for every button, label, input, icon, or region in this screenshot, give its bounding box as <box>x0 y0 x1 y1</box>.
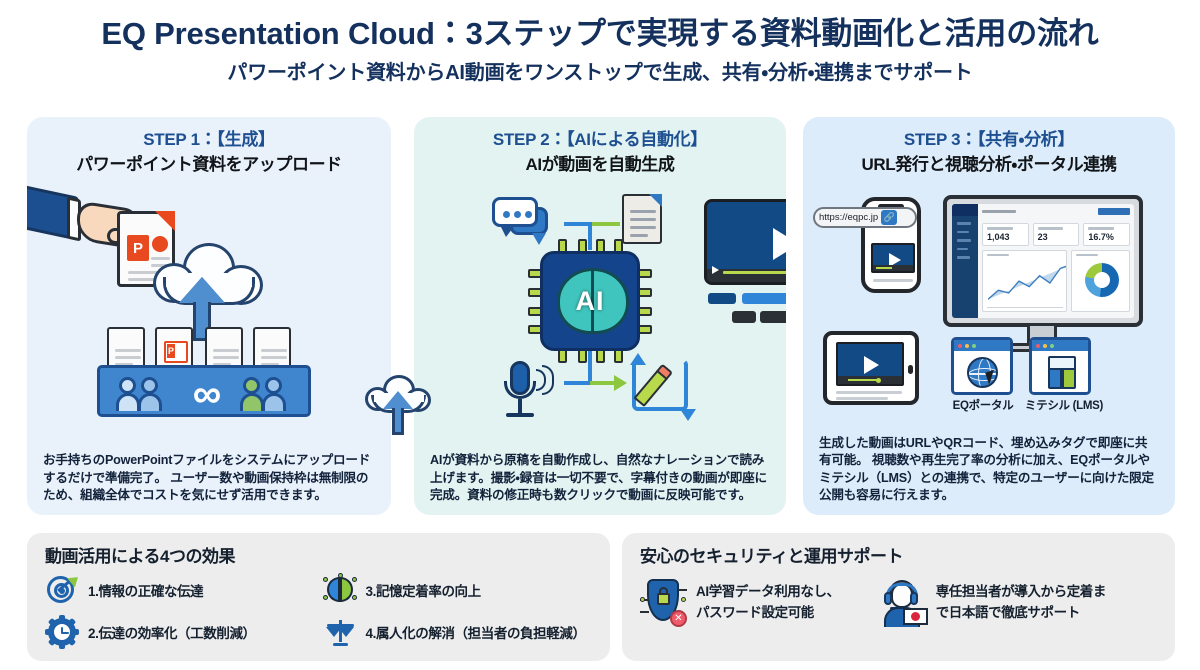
security-text-2-line2: で日本語で徹底サポート <box>936 605 1080 620</box>
subtitle-track <box>760 311 786 323</box>
steps-row: STEP 1：【生成】 パワーポイント資料をアップロード P <box>0 117 1200 517</box>
area-chart <box>982 250 1067 312</box>
tablet-icon <box>823 331 919 405</box>
cube-icon <box>1046 356 1078 390</box>
portal-window-lms[interactable] <box>1029 337 1091 395</box>
dashboard-charts <box>982 250 1130 312</box>
portal-window-eq[interactable] <box>951 337 1013 395</box>
connector-top-left <box>564 222 590 226</box>
security-item-2: 専任担当者が導入から定着ま で日本語で徹底サポート <box>876 577 1106 627</box>
header: EQ Presentation Cloud：3ステップで実現する資料動画化と活用… <box>0 0 1200 85</box>
portal-caption-lms: ミテシル (LMS) <box>1019 397 1109 413</box>
unlimited-users-icon: ∞ <box>97 365 311 417</box>
video-player-icon <box>704 199 786 285</box>
connector-bottom-green <box>590 381 616 385</box>
connector-arrowhead <box>614 375 627 391</box>
connector-bottom-left <box>588 351 592 383</box>
security-panel: 安心のセキュリティと運用サポート ✕ AI学習データ利用なし、 パスワード設定可… <box>622 533 1175 661</box>
connector-top-down <box>588 222 592 250</box>
page-subtitle: パワーポイント資料からAI動画をワンストップで生成、共有・分析・連携までサポート <box>0 61 1200 85</box>
effect-item-1: 1.情報の正確な伝達 <box>45 573 323 607</box>
effects-panel: 動画活用による4つの効果 1.情報の正確な伝達 <box>27 533 610 661</box>
dashboard-kpi-row: 1,043 23 16.7% <box>982 223 1130 246</box>
kpi-card-2: 23 <box>1033 223 1080 246</box>
shield-lock-icon: ✕ <box>640 577 686 627</box>
connector-top-right <box>590 222 620 226</box>
infinity-symbol: ∞ <box>182 370 232 418</box>
effects-panel-title: 動画活用による4つの効果 <box>27 533 610 567</box>
security-text-2-line1: 専任担当者が導入から定着ま <box>936 584 1106 599</box>
ai-chip-icon: AI <box>540 251 640 351</box>
page-title: EQ Presentation Cloud：3ステップで実現する資料動画化と活用… <box>0 16 1200 52</box>
effects-grid: 1.情報の正確な伝達 3.記憶定着率の向上 <box>45 573 600 649</box>
step-3-body: 生成した動画はURLやQRコード、埋め込みタグで即座に共有可能。 視聴数や再生完… <box>803 435 1175 505</box>
security-text-1-line1: AI学習データ利用なし、 <box>696 584 840 599</box>
step-1-body: お手持ちのPowerPointファイルをシステムにアップロードするだけで準備完了… <box>27 452 391 505</box>
balance-scale-icon <box>323 615 357 649</box>
link-icon: 🔗 <box>881 210 897 225</box>
security-text-2: 専任担当者が導入から定着ま で日本語で徹底サポート <box>936 581 1106 623</box>
step-3-illustration: https://eqpc.jp 🔗 <box>803 189 1175 417</box>
step-2-title: AIが動画を自動生成 <box>424 153 776 176</box>
microphone-icon <box>498 361 560 423</box>
dashboard-sidebar <box>952 204 978 318</box>
effect-label-1: 1.情報の正確な伝達 <box>88 580 203 600</box>
script-document-icon <box>622 194 662 244</box>
chip-label: AI <box>543 254 637 348</box>
step-3-label: STEP 3：【共有・分析】 <box>813 129 1165 151</box>
gear-clock-icon <box>45 615 79 649</box>
effect-label-4: 4.属人化の解消（担当者の負担軽減） <box>366 622 586 642</box>
effect-label-2: 2.伝達の効率化（工数削減） <box>88 622 256 642</box>
portal-caption-eq: EQポータル <box>943 397 1023 413</box>
connector-cloud-1 <box>365 375 431 437</box>
step-2-label: STEP 2：【AIによる自動化】 <box>424 129 776 151</box>
step-1-illustration: P <box>27 189 391 417</box>
effect-label-3: 3.記憶定着率の向上 <box>366 580 481 600</box>
share-url-text: https://eqpc.jp <box>819 212 878 223</box>
share-url-pill[interactable]: https://eqpc.jp 🔗 <box>813 207 917 228</box>
speech-bubble-icon <box>492 197 548 243</box>
donut-chart <box>1071 250 1130 312</box>
subtitle-bar-1 <box>708 293 736 304</box>
edit-loop-icon <box>630 353 694 419</box>
brain-icon <box>323 573 357 607</box>
kpi-card-1: 1,043 <box>982 223 1029 246</box>
security-panel-title: 安心のセキュリティと運用サポート <box>622 533 1175 567</box>
connector-bottom-h <box>564 381 592 385</box>
effect-item-2: 2.伝達の効率化（工数削減） <box>45 615 323 649</box>
japan-flag-icon <box>903 608 928 625</box>
step-card-2: STEP 2：【AIによる自動化】 AIが動画を自動生成 <box>414 117 786 515</box>
kpi-value-2: 23 <box>1038 232 1075 242</box>
step-3-head: STEP 3：【共有・分析】 URL発行と視聴分析・ポータル連携 <box>803 117 1175 176</box>
dashboard-main: 1,043 23 16.7% <box>978 204 1134 318</box>
step-1-label: STEP 1：【生成】 <box>37 129 381 151</box>
step-2-head: STEP 2：【AIによる自動化】 AIが動画を自動生成 <box>414 117 786 176</box>
no-ai-training-badge: ✕ <box>670 610 687 627</box>
kpi-value-1: 1,043 <box>987 232 1024 242</box>
step-2-illustration: AI <box>414 189 786 417</box>
kpi-card-3: 16.7% <box>1083 223 1130 246</box>
kpi-value-3: 16.7% <box>1088 232 1125 242</box>
target-arrow-icon <box>45 573 79 607</box>
security-grid: ✕ AI学習データ利用なし、 パスワード設定可能 <box>640 577 1163 627</box>
effect-item-4: 4.属人化の解消（担当者の負担軽減） <box>323 615 601 649</box>
security-text-1: AI学習データ利用なし、 パスワード設定可能 <box>696 581 840 623</box>
infographic-page: EQ Presentation Cloud：3ステップで実現する資料動画化と活用… <box>0 0 1200 670</box>
step-1-head: STEP 1：【生成】 パワーポイント資料をアップロード <box>27 117 391 176</box>
step-2-body: AIが資料から原稿を自動作成し、自然なナレーションで読み上げます。撮影・録音は一… <box>414 452 786 505</box>
powerpoint-badge: P <box>127 235 149 261</box>
subtitle-bar-2 <box>742 293 786 304</box>
effect-item-3: 3.記憶定着率の向上 <box>323 573 601 607</box>
step-1-title: パワーポイント資料をアップロード <box>37 153 381 176</box>
step-card-3: STEP 3：【共有・分析】 URL発行と視聴分析・ポータル連携 https:/… <box>803 117 1175 515</box>
step-3-title: URL発行と視聴分析・ポータル連携 <box>813 153 1165 176</box>
caption-toggle <box>732 311 756 323</box>
security-text-1-line2: パスワード設定可能 <box>696 605 814 620</box>
support-agent-icon <box>876 577 926 627</box>
security-item-1: ✕ AI学習データ利用なし、 パスワード設定可能 <box>640 577 840 627</box>
step-card-1: STEP 1：【生成】 パワーポイント資料をアップロード P <box>27 117 391 515</box>
desktop-monitor-icon: 1,043 23 16.7% <box>943 195 1143 327</box>
